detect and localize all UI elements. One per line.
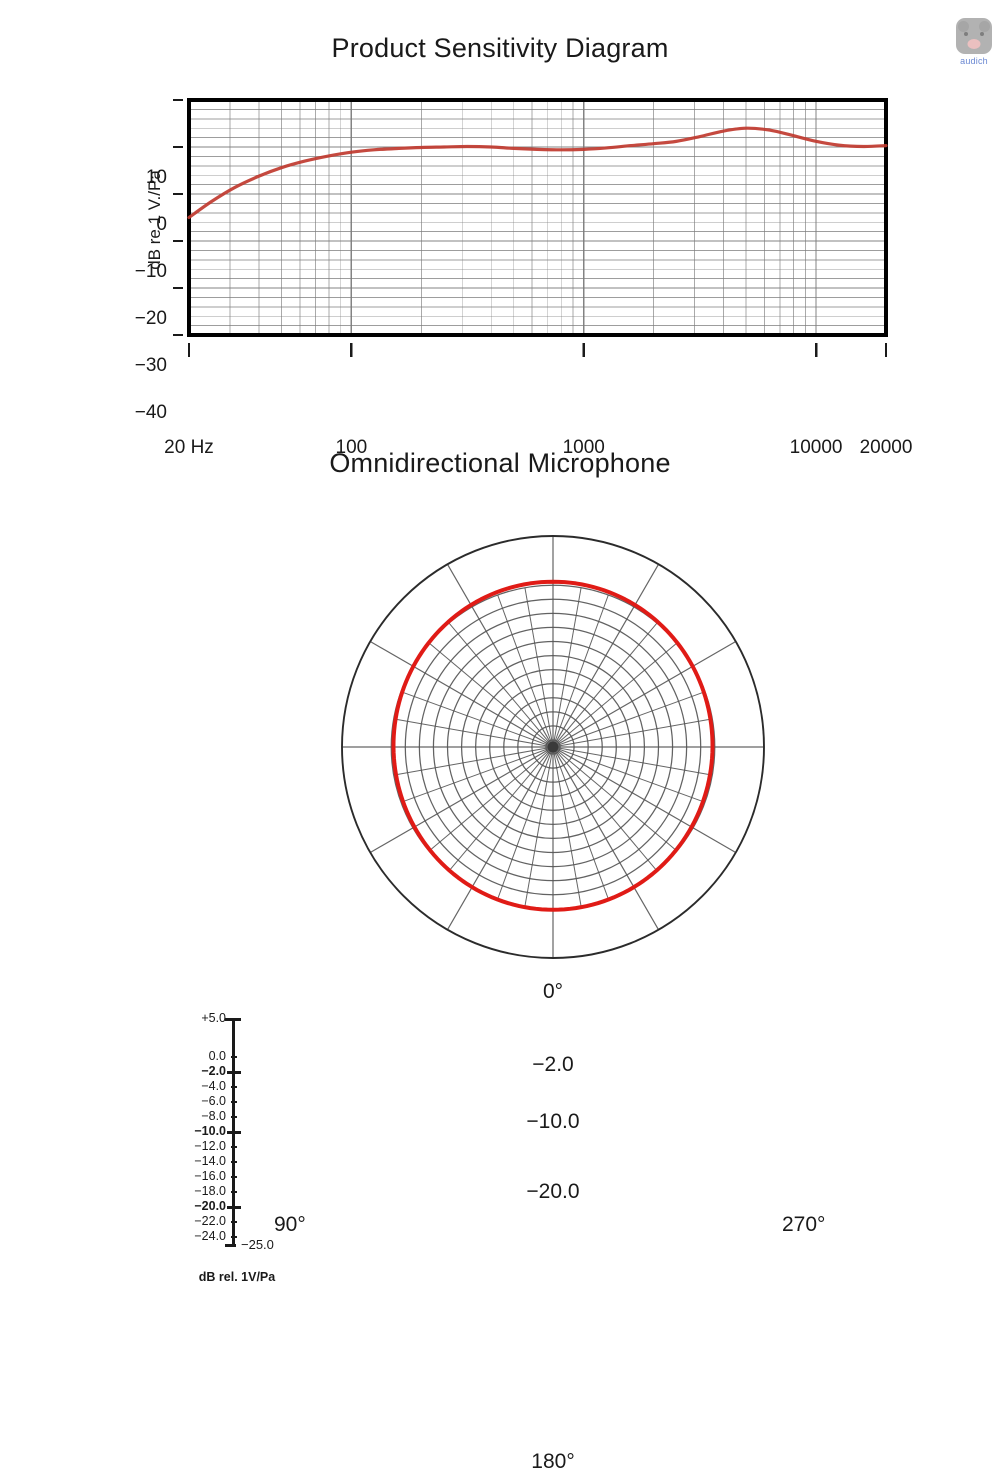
polar-angle-label-270: 270° [782, 1213, 825, 1237]
db-scale-tick-label: −20.0 [160, 1199, 226, 1214]
polar-angle-label-90: 90° [274, 1213, 306, 1237]
page-title-frequency-diagram: Product Sensitivity Diagram [0, 33, 1000, 64]
db-scale-tick-mark [227, 1206, 241, 1209]
polar-angle-label-180: 180° [493, 1450, 613, 1474]
db-scale-tick-label: −10.0 [160, 1124, 226, 1139]
polar-pattern-chart: +5.00.0−2.0−4.0−6.0−8.0−10.0−12.0−14.0−1… [0, 480, 1000, 1000]
db-scale-tick-label: −22.0 [160, 1214, 226, 1229]
y-axis-tick-label: −10 [103, 261, 167, 283]
db-scale-tick-mark [227, 1018, 241, 1021]
db-scale-tick-mark [231, 1191, 237, 1193]
frequency-response-chart: dB re 1 V./Pa 100−10−20−30−40 20 Hz10010… [0, 80, 1000, 380]
avatar-ear-left [958, 21, 969, 32]
polar-angle-label-0: 0° [493, 980, 613, 1004]
db-scale-tick-mark [231, 1101, 237, 1103]
db-scale-tick-mark [231, 1176, 237, 1178]
page-root: audich Product Sensitivity Diagram dB re… [0, 0, 1000, 1000]
polar-center-hub [548, 742, 559, 753]
y-axis-tick-label: −40 [103, 402, 167, 424]
db-scale-tick-mark [231, 1116, 237, 1118]
db-scale-tick-label: 0.0 [160, 1049, 226, 1064]
y-axis-tick-label: 10 [103, 167, 167, 189]
db-scale-tick-label: −14.0 [160, 1154, 226, 1169]
frequency-response-curve [189, 128, 886, 217]
db-scale-tick-label: −18.0 [160, 1184, 226, 1199]
db-scale-tick-mark [231, 1086, 237, 1088]
y-axis-tick-label: 0 [103, 214, 167, 236]
db-scale-tick-mark [227, 1131, 241, 1134]
polar-radial-tick-label: −20.0 [493, 1179, 613, 1205]
db-scale-tick-mark [231, 1161, 237, 1163]
db-scale-tick-label: −24.0 [160, 1229, 226, 1244]
page-title-polar-diagram: Omnidirectional Microphone [0, 448, 1000, 479]
polar-radial-tick-label: −2.0 [493, 1052, 613, 1078]
db-scale-tick-label: −8.0 [160, 1109, 226, 1124]
avatar-ear-right [979, 21, 990, 32]
frequency-chart-frame [189, 100, 886, 335]
db-scale-tick-label: −2.0 [160, 1064, 226, 1079]
db-scale-caption: dB rel. 1V/Pa [152, 1270, 322, 1284]
y-axis-tick-label: −20 [103, 308, 167, 330]
db-scale-tick-mark [227, 1071, 241, 1074]
polar-radial-tick-label: −10.0 [493, 1109, 613, 1135]
db-scale-tick-mark [231, 1056, 237, 1058]
db-scale-tick-label: −16.0 [160, 1169, 226, 1184]
db-scale-tick-mark [231, 1146, 237, 1148]
y-axis-tick-label: −30 [103, 355, 167, 377]
db-scale-tick-label: +5.0 [160, 1011, 226, 1026]
db-scale-tick-mark [231, 1236, 237, 1238]
db-scale-tick-label: −4.0 [160, 1079, 226, 1094]
db-scale-cap-bottom [225, 1244, 236, 1247]
db-scale-tick-label: −12.0 [160, 1139, 226, 1154]
polar-chart-plot [0, 480, 1000, 1000]
frequency-chart-gridlines [189, 100, 886, 335]
db-scale-tick-label: −6.0 [160, 1094, 226, 1109]
db-scale-bottom-label: −25.0 [241, 1237, 274, 1252]
db-scale-tick-mark [231, 1221, 237, 1223]
